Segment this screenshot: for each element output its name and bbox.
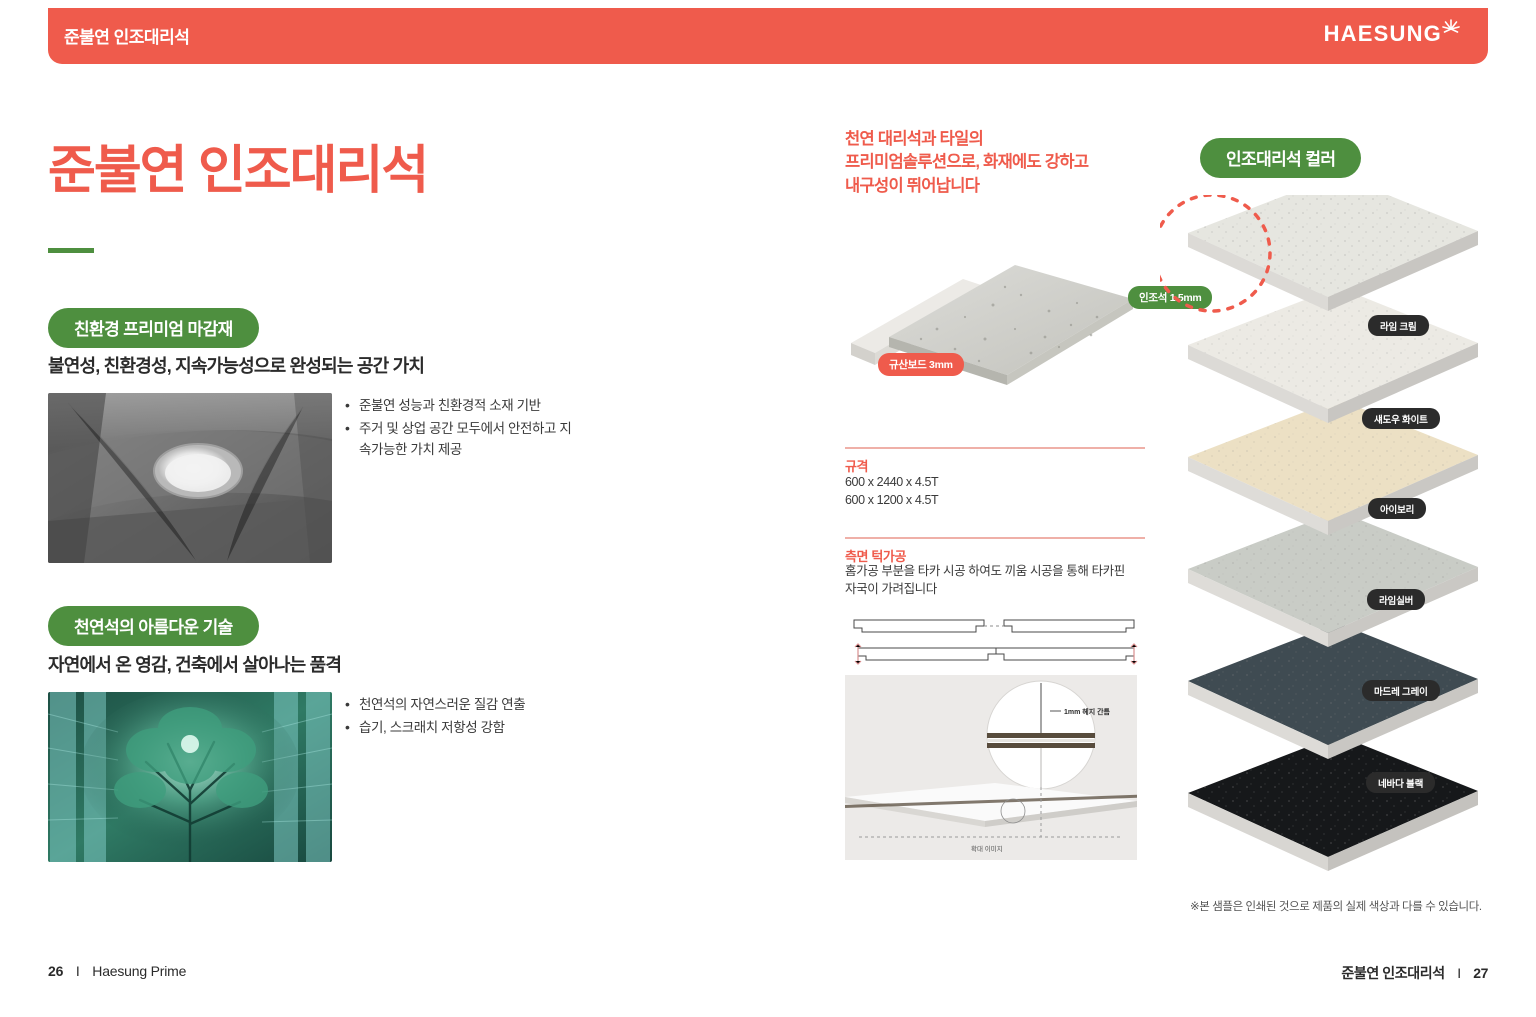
photo-tree-canopy: [48, 692, 332, 862]
list-item: 준불연 성능과 친환경적 소재 기반: [345, 396, 575, 417]
detail-callout-text: 1mm 헤지 간틈: [1064, 707, 1111, 716]
spec-value-1: 600 x 2440 x 4.5T: [845, 474, 938, 492]
color-section-badge: 인조대리석 컬러: [1200, 138, 1361, 178]
page-header-bar: 준불연 인조대리석 HAESUNG: [48, 8, 1488, 64]
bullet-list-natural: 천연석의 자연스러운 질감 연출 습기, 스크래치 저항성 강함: [345, 695, 575, 741]
headline-line-2: 프리미엄솔루션으로, 화재에도 강하고: [845, 151, 1088, 174]
list-item: 천연석의 자연스러운 질감 연출: [345, 695, 575, 716]
divider-spec: [845, 447, 1145, 449]
spec-label: 규격: [845, 456, 868, 475]
list-item: 습기, 스크래치 저항성 강함: [345, 718, 575, 739]
list-item: 주거 및 상업 공간 모두에서 안전하고 지속가능한 가치 제공: [345, 419, 575, 461]
section-subtitle-eco: 불연성, 친환경성, 지속가능성으로 완성되는 공간 가치: [48, 352, 424, 378]
footer-right-separator: I: [1448, 965, 1470, 981]
catalog-page: 준불연 인조대리석 HAESUNG 준불연 인조대리석: [0, 0, 1536, 1017]
footer-right-label: 준불연 인조대리석: [1341, 965, 1444, 981]
divider-edge: [845, 537, 1145, 539]
brand-logo-text: HAESUNG: [1324, 21, 1442, 47]
slab-label-lime-cream: 라임 크림: [1368, 315, 1429, 336]
footer-left-separator: I: [67, 963, 89, 979]
headline-line-1: 천연 대리석과 타일의: [845, 128, 1088, 151]
edge-profile-diagram: [848, 604, 1140, 666]
sun-icon: [1440, 21, 1462, 47]
spec-values: 600 x 2440 x 4.5T 600 x 1200 x 4.5T: [845, 474, 938, 510]
color-footnote: ※본 샘플은 인쇄된 것으로 제품의 실제 색상과 다를 수 있습니다.: [1190, 898, 1482, 914]
badge-layer-silicate-board: 규산보드 3mm: [878, 353, 964, 376]
footer-right: 준불연 인조대리석 I 27: [1341, 963, 1488, 983]
spec-value-2: 600 x 1200 x 4.5T: [845, 492, 938, 510]
section-subtitle-natural: 자연에서 온 영감, 건축에서 살아나는 품격: [48, 651, 341, 677]
detail-caption-text: 확대 이미지: [971, 844, 1003, 853]
section-badge-natural: 천연석의 아름다운 기술: [48, 606, 259, 646]
footer-right-page: 27: [1473, 965, 1488, 981]
photo-edge-detail: 1mm 헤지 간틈 확대 이미지: [845, 675, 1137, 860]
footer-left: 26 I Haesung Prime: [48, 963, 186, 979]
page-title: 준불연 인조대리석: [48, 128, 427, 203]
panel-layer-diagram: [845, 225, 1145, 415]
header-title: 준불연 인조대리석: [64, 23, 189, 48]
middle-headline: 천연 대리석과 타일의 프리미엄솔루션으로, 화재에도 강하고 내구성이 뛰어납…: [845, 128, 1088, 198]
edge-description: 홈가공 부분을 타카 시공 하여도 끼움 시공을 통해 타카핀 자국이 가려집니…: [845, 563, 1137, 599]
slab-label-madre-grey: 마드레 그레이: [1362, 680, 1440, 701]
footer-left-page: 26: [48, 963, 63, 979]
footer-left-label: Haesung Prime: [92, 963, 186, 979]
slab-label-shadow-white: 섀도우 화이트: [1362, 408, 1440, 429]
slab-label-ivory: 아이보리: [1368, 498, 1426, 519]
photo-concrete-architecture: [48, 393, 332, 563]
brand-logo: HAESUNG: [1324, 21, 1462, 47]
bullet-list-eco: 준불연 성능과 친환경적 소재 기반 주거 및 상업 공간 모두에서 안전하고 …: [345, 396, 575, 463]
color-slab-stack: [1160, 195, 1500, 885]
section-badge-eco: 친환경 프리미엄 마감재: [48, 308, 259, 348]
headline-line-3: 내구성이 뛰어납니다: [845, 175, 1088, 198]
slab-label-nevada-black: 네바다 블랙: [1366, 772, 1435, 793]
title-divider: [48, 248, 94, 253]
slab-label-lime-silver: 라임실버: [1367, 589, 1425, 610]
